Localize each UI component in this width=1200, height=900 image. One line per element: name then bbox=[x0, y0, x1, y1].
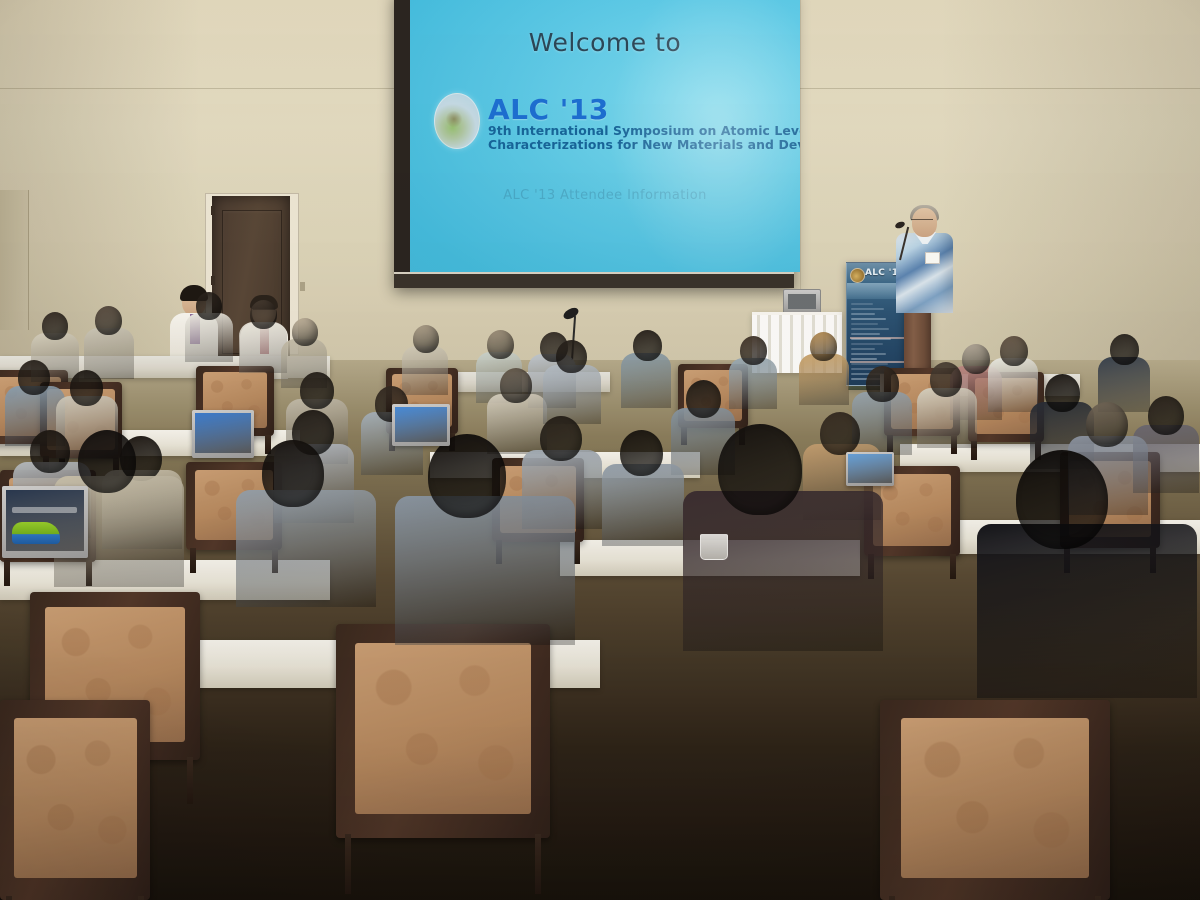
speaker-name-badge bbox=[925, 252, 940, 264]
laptop-screen bbox=[195, 413, 251, 453]
audience-member-torso bbox=[683, 491, 883, 651]
slide-footer-text: ALC '13 Attendee Information bbox=[410, 188, 800, 203]
audience-member-head bbox=[1148, 396, 1184, 435]
audience-member-head bbox=[300, 372, 334, 409]
audience-member-head bbox=[633, 330, 662, 361]
audience-member-torso bbox=[395, 496, 575, 644]
slide-welcome-text: Welcome to bbox=[410, 28, 800, 57]
chair-fg-right[interactable] bbox=[880, 700, 1110, 900]
audience-member-head bbox=[78, 430, 136, 493]
audience-member-torso bbox=[185, 313, 233, 362]
audience-member-torso bbox=[239, 322, 287, 373]
chair-fg-far-left[interactable] bbox=[0, 700, 150, 900]
audience-member-torso bbox=[236, 490, 376, 608]
audience-member-head bbox=[292, 318, 318, 346]
wall-light-switch[interactable] bbox=[300, 282, 305, 291]
slide-event-acronym: ALC '13 bbox=[488, 93, 609, 126]
audience-member-head bbox=[95, 306, 122, 335]
audience-member-head bbox=[930, 362, 962, 397]
audience-member-head bbox=[487, 330, 514, 359]
alc-logo-icon bbox=[434, 93, 480, 149]
laptop-lid bbox=[392, 404, 450, 446]
audience-member-head bbox=[42, 312, 68, 340]
laptop-screen bbox=[395, 407, 447, 442]
poster-logo-icon bbox=[850, 268, 865, 283]
audience-member-head bbox=[820, 412, 860, 455]
audience-member-torso bbox=[621, 353, 671, 408]
door-hinge-mid bbox=[211, 276, 215, 285]
audience-member-head bbox=[196, 292, 222, 320]
poster-program-line bbox=[851, 363, 888, 365]
audience-member-torso bbox=[402, 346, 448, 395]
poster-program-line bbox=[851, 308, 884, 310]
audience-member-head bbox=[18, 360, 50, 395]
audience-member-head bbox=[428, 434, 506, 518]
laptop-lid bbox=[2, 486, 88, 558]
audience-member-head bbox=[262, 440, 324, 507]
laptop-screen bbox=[848, 454, 891, 483]
audience-member-head bbox=[962, 344, 990, 374]
chair-cushion bbox=[14, 718, 137, 878]
audience-member-head bbox=[250, 300, 277, 329]
slide-subtitle-line1: 9th International Symposium on Atomic Le… bbox=[488, 123, 800, 138]
audience-member-head bbox=[740, 336, 767, 365]
poster-program-line bbox=[851, 313, 875, 315]
audience-member-head bbox=[1016, 450, 1108, 549]
projection-screen: Welcome to ALC '13 9th International Sym… bbox=[410, 0, 800, 272]
chair-cushion bbox=[355, 643, 530, 814]
audience-member-torso bbox=[917, 388, 977, 449]
audience-member-torso bbox=[977, 524, 1197, 699]
audience-member-head bbox=[1086, 402, 1128, 447]
chair-legs bbox=[6, 896, 144, 900]
projection-screen-bottom-rail bbox=[394, 272, 794, 288]
laptop-blue-screen-left[interactable] bbox=[192, 410, 254, 458]
audience-member-head bbox=[620, 430, 663, 476]
audience-member-head bbox=[556, 340, 587, 373]
chair-cushion bbox=[901, 718, 1090, 878]
audience-member-head bbox=[866, 366, 899, 402]
audience-member-head bbox=[500, 368, 532, 403]
macbook-green-car-wallpaper[interactable] bbox=[2, 486, 88, 558]
poster-program-line bbox=[851, 343, 883, 345]
slide-subtitle-line2: Characterizations for New Materials and … bbox=[488, 137, 800, 152]
water-glass[interactable] bbox=[700, 534, 728, 560]
audience-member-head bbox=[413, 325, 439, 353]
poster-program-line bbox=[851, 358, 877, 360]
audience-member-head bbox=[718, 424, 802, 515]
poster-program-line bbox=[851, 348, 875, 350]
audience-member-torso bbox=[602, 464, 684, 546]
chair-legs bbox=[889, 896, 1101, 900]
poster-program-line bbox=[851, 353, 886, 355]
audience-member-head bbox=[540, 416, 582, 461]
laptop-blue-screen-right[interactable] bbox=[846, 452, 894, 486]
audience-member-head bbox=[1000, 336, 1028, 366]
audience-member-head bbox=[30, 430, 70, 473]
audience-member-head bbox=[686, 380, 721, 418]
audience-member-torso bbox=[729, 358, 777, 409]
poster-program-line bbox=[851, 318, 886, 320]
poster-program-line bbox=[851, 328, 889, 330]
chair-fg-center[interactable] bbox=[336, 624, 550, 838]
macos-dock[interactable] bbox=[12, 507, 77, 514]
audience-member-head bbox=[70, 370, 103, 406]
audience-member-head bbox=[810, 332, 837, 361]
glasses-icon bbox=[911, 219, 933, 225]
audience-member-torso bbox=[988, 358, 1038, 411]
door-hinge-top bbox=[211, 206, 215, 215]
audience-member-torso bbox=[543, 365, 601, 424]
audience-member-torso bbox=[487, 394, 547, 455]
audience-member-torso bbox=[799, 354, 849, 405]
laptop-lid bbox=[192, 410, 254, 458]
audience-member-head bbox=[1110, 334, 1139, 365]
laptop-screen bbox=[6, 490, 83, 550]
audience-member-head bbox=[1045, 374, 1080, 412]
chair-legs bbox=[345, 834, 542, 894]
conference-hall-photo: Welcome to ALC '13 9th International Sym… bbox=[0, 0, 1200, 900]
laptop-blue-screen-mid[interactable] bbox=[392, 404, 450, 446]
poster-program-line bbox=[851, 323, 878, 325]
car-wallpaper bbox=[12, 522, 60, 544]
poster-program-line bbox=[851, 303, 873, 305]
poster-program-line bbox=[851, 333, 880, 335]
laptop-lid bbox=[846, 452, 894, 486]
